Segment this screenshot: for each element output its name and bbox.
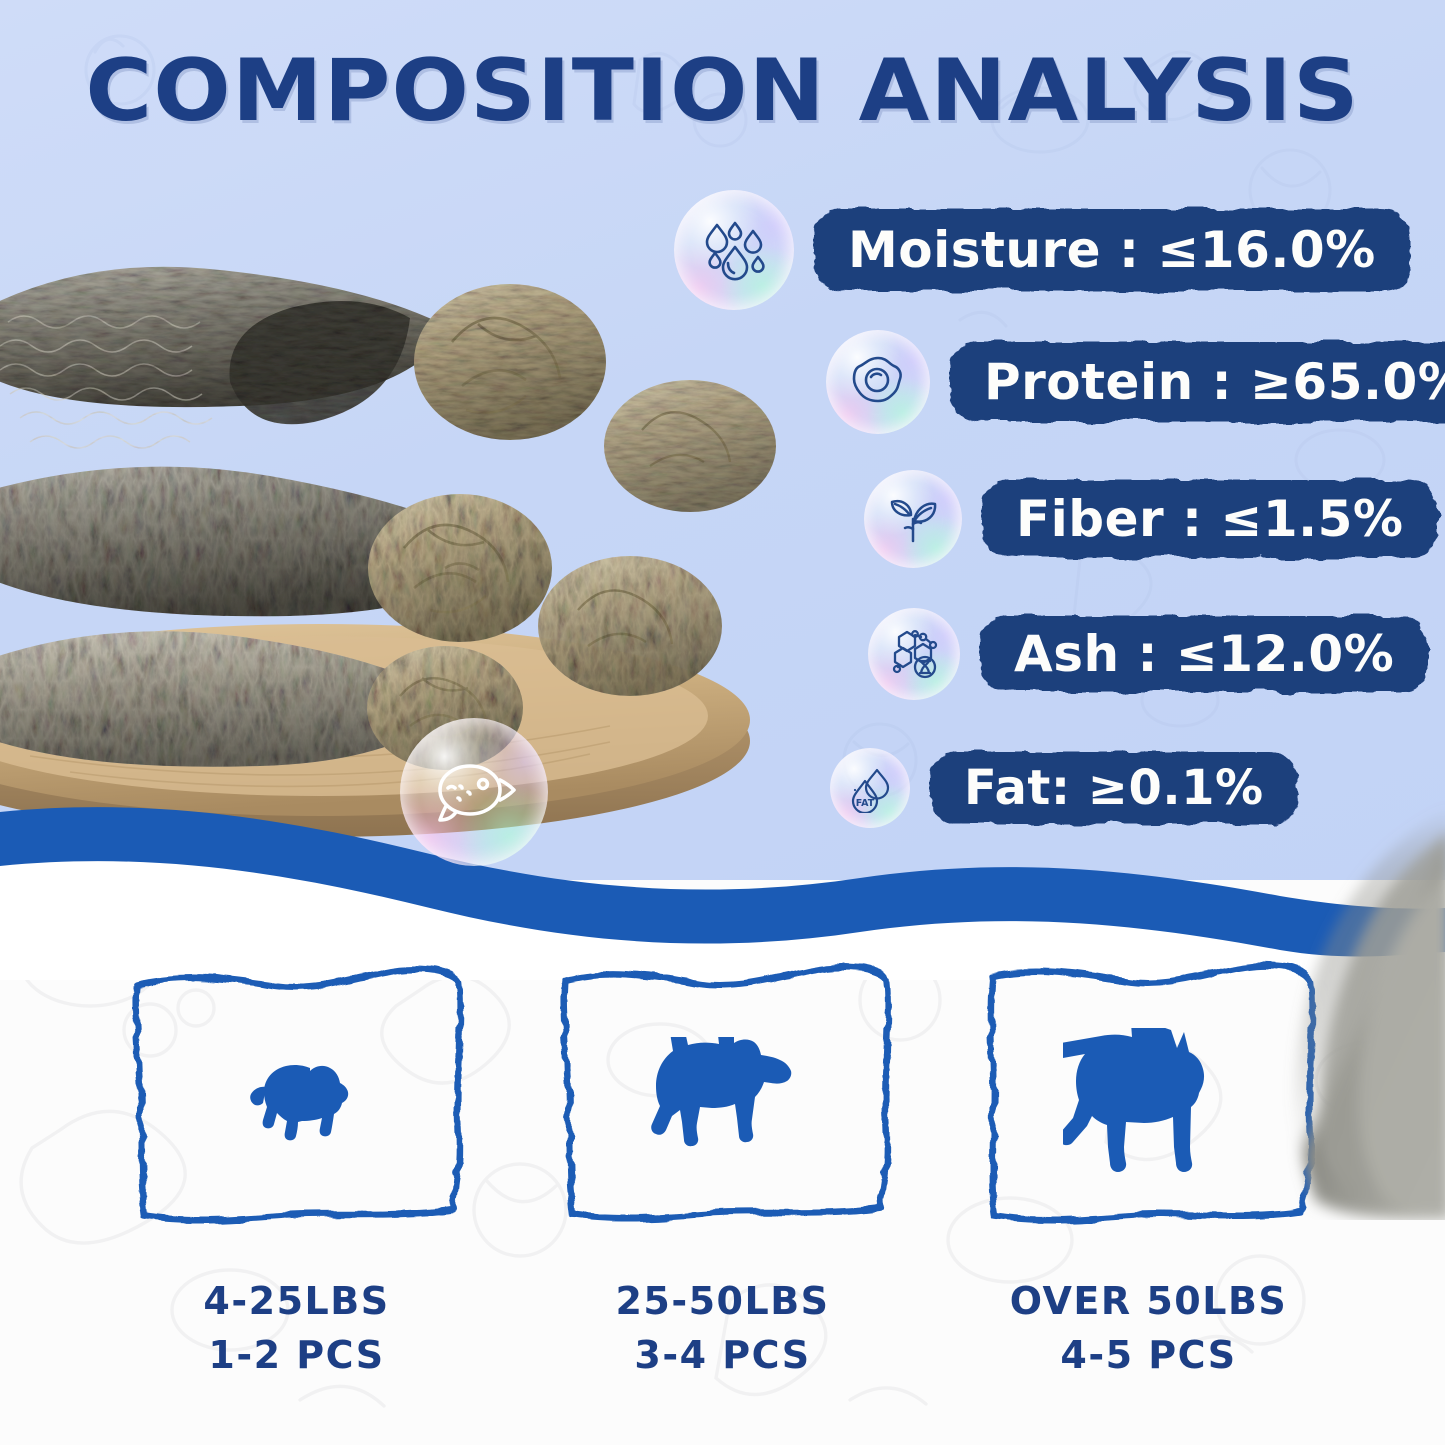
feeding-weight-range: 4-25LBS (125, 1275, 469, 1329)
feeding-card-frame (125, 960, 469, 1245)
composition-row-moisture: Moisture : ≤16.0% (674, 190, 1410, 310)
composition-banner-fiber: Fiber : ≤1.5% (982, 480, 1438, 558)
page-title: COMPOSITION ANALYSIS (0, 48, 1445, 134)
feeding-card-label: 4-25LBS 1-2 PCS (125, 1275, 469, 1383)
molecule-icon (868, 608, 960, 700)
composition-row-fiber: Fiber : ≤1.5% (864, 470, 1438, 568)
small-dog-icon (125, 1057, 469, 1149)
feeding-card-label: 25-50LBS 3-4 PCS (551, 1275, 895, 1383)
composition-row-protein: Protein : ≥65.0% (826, 330, 1445, 434)
composition-banner-protein: Protein : ≥65.0% (950, 342, 1445, 422)
feeding-card-label: OVER 50LBS 4-5 PCS (977, 1275, 1321, 1383)
fried-egg-icon (826, 330, 930, 434)
composition-analysis-infographic: COMPOSITION ANALYSIS Moisture : ≤16.0% (0, 0, 1445, 1445)
feeding-card-frame (551, 960, 895, 1245)
feeding-card-large[interactable]: OVER 50LBS 4-5 PCS (977, 960, 1321, 1420)
feeding-card-frame (977, 960, 1321, 1245)
feeding-card-small[interactable]: 4-25LBS 1-2 PCS (125, 960, 469, 1420)
water-drops-icon (674, 190, 794, 310)
large-dog-icon (977, 1028, 1321, 1178)
feeding-piece-count: 1-2 PCS (125, 1329, 469, 1383)
composition-banner-fat: Fat: ≥0.1% (930, 752, 1298, 824)
feeding-piece-count: 3-4 PCS (551, 1329, 895, 1383)
svg-text:FAT: FAT (856, 798, 875, 809)
composition-row-ash: Ash : ≤12.0% (868, 608, 1428, 700)
feeding-piece-count: 4-5 PCS (977, 1329, 1321, 1383)
composition-banner-ash: Ash : ≤12.0% (980, 616, 1428, 692)
feeding-weight-range: OVER 50LBS (977, 1275, 1321, 1329)
leaf-plant-icon (864, 470, 962, 568)
feeding-guide: 4-25LBS 1-2 PCS 25-50LBS 3-4 PCS (0, 960, 1445, 1420)
corner-cat-photo (1271, 800, 1445, 1220)
feeding-weight-range: 25-50LBS (551, 1275, 895, 1329)
fish-bubble-icon (400, 718, 548, 866)
feeding-card-medium[interactable]: 25-50LBS 3-4 PCS (551, 960, 895, 1420)
composition-banner-moisture: Moisture : ≤16.0% (814, 209, 1410, 291)
medium-dog-icon (551, 1037, 895, 1169)
